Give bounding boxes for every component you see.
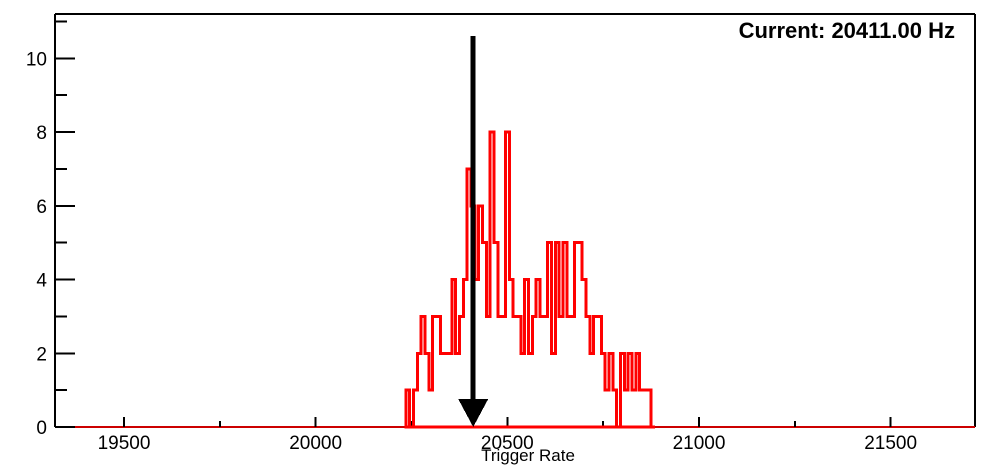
plot-frame (55, 14, 975, 427)
x-tick-label: 20000 (289, 433, 342, 454)
x-tick-label: 21000 (673, 433, 726, 454)
y-tick-label: 10 (26, 49, 47, 70)
y-tick-label: 0 (36, 418, 47, 439)
x-axis-title: Trigger Rate (481, 446, 575, 465)
histogram-outline (406, 132, 655, 427)
x-tick-label: 21500 (864, 433, 917, 454)
y-tick-label: 2 (36, 344, 47, 365)
trigger-rate-histogram: 1950020000205002100021500 0246810 Trigge… (0, 0, 996, 472)
current-marker-arrowhead (458, 399, 488, 427)
y-tick-label: 4 (36, 271, 47, 292)
x-tick-label: 19500 (98, 433, 151, 454)
y-axis-tick-labels: 0246810 (26, 49, 48, 439)
y-tick-label: 6 (36, 197, 47, 218)
y-tick-label: 8 (36, 123, 47, 144)
chart-canvas: 1950020000205002100021500 0246810 Trigge… (0, 0, 996, 472)
y-axis-ticks (55, 21, 75, 427)
current-rate-annotation: Current: 20411.00 Hz (739, 18, 955, 43)
histogram-series (406, 132, 655, 427)
